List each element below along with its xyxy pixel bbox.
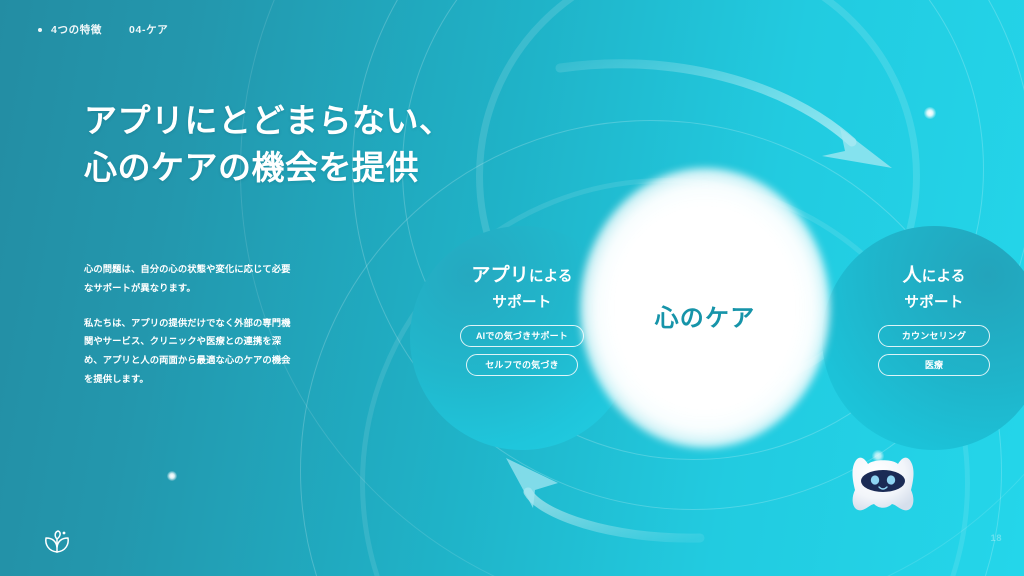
sparkle-dot-left [167,471,177,481]
arrow-clockwise-bottom-left [506,458,700,538]
meta-section-label: 4つの特徴 [51,22,102,37]
tag-self-awareness[interactable]: セルフでの気づき [466,354,578,376]
pillar-app-title: アプリによる [471,264,572,288]
pillar-human-title: 人による [903,264,966,288]
tag-medical[interactable]: 医療 [878,354,990,376]
slide-canvas: 4つの特徴 04-ケア アプリにとどまらない、 心のケアの機会を提供 心の問題は… [0,0,1024,576]
slide-meta: 4つの特徴 04-ケア [38,22,168,37]
mascot-body [852,458,913,511]
pillar-app-title-suffix: による [529,269,573,285]
center-label: 心のケア [580,298,830,333]
body-paragraph-2: 私たちは、アプリの提供だけでなく外部の専門機関やサービス、クリニックや医療との連… [84,314,298,389]
tag-ai-awareness-support[interactable]: AIでの気づきサポート [460,325,584,347]
pillar-app-title-strong: アプリ [471,265,529,286]
pillar-app-subtitle: サポート [492,291,551,312]
body-copy: 心の問題は、自分の心の状態や変化に応じて必要なサポートが異なります。 私たちは、… [84,260,298,389]
pillar-human-title-strong: 人 [903,265,922,286]
body-paragraph-1: 心の問題は、自分の心の状態や変化に応じて必要なサポートが異なります。 [84,260,298,298]
sparkle-dot-top-right [924,107,936,119]
page-title-line-2: 心のケアの機会を提供 [84,145,452,192]
mascot-eye-right [887,475,895,484]
pillar-app-tag-list: AIでの気づきサポート セルフでの気づき [460,325,584,376]
arrow-clockwise-top-right [560,64,892,168]
robot-cat-mascot [842,448,924,520]
mascot-eye-left [871,475,879,484]
bullet-dot-icon [38,28,42,32]
pillar-human-support[interactable]: 人による サポート カウンセリング 医療 [822,226,1024,450]
pillar-human-title-suffix: による [922,269,966,285]
page-title: アプリにとどまらない、 心のケアの機会を提供 [84,98,452,192]
tag-counseling[interactable]: カウンセリング [878,325,990,347]
leaf-logo [42,527,72,557]
pillar-human-tag-list: カウンセリング 医療 [878,325,990,376]
meta-item-label: 04-ケア [129,22,168,37]
pillar-human-subtitle: サポート [904,291,963,312]
page-title-line-1: アプリにとどまらない、 [84,98,452,145]
page-number: 18 [990,533,1002,544]
